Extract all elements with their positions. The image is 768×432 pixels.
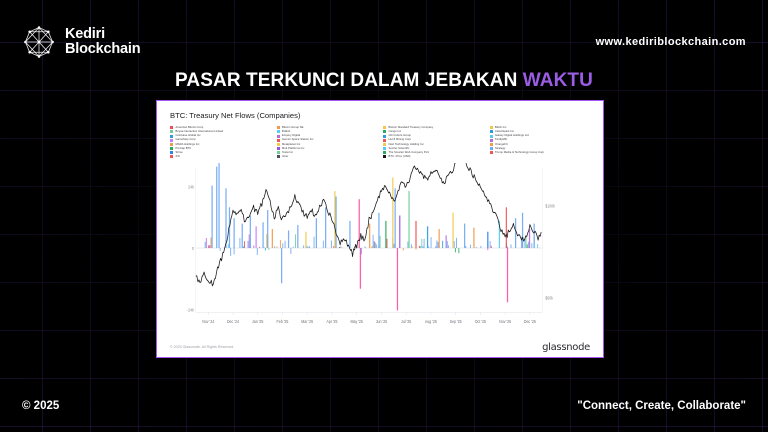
svg-text:Nov '25: Nov '25 bbox=[499, 318, 512, 324]
svg-text:Dec '24: Dec '24 bbox=[227, 318, 240, 324]
flow-bar bbox=[308, 247, 309, 248]
flow-bar-notable bbox=[256, 226, 257, 248]
legend-item[interactable]: Metaplanet Inc bbox=[277, 143, 380, 147]
flow-bar bbox=[307, 245, 308, 247]
flow-bar bbox=[309, 246, 310, 248]
flow-bar bbox=[420, 246, 421, 248]
legend-item[interactable]: Hut 8 Mining Corp bbox=[383, 138, 486, 142]
legend-swatch-icon bbox=[277, 135, 280, 138]
flow-bar bbox=[303, 245, 304, 248]
glassnode-logo: glassnode bbox=[542, 342, 590, 353]
flow-bar bbox=[253, 245, 254, 248]
flow-bar-notable bbox=[534, 223, 535, 247]
legend-item[interactable]: XXI bbox=[170, 155, 273, 159]
chart-svg[interactable]: 24k0-24k$100k$60kNov '24Dec '24Jan '25Fe… bbox=[166, 163, 594, 339]
legend-label: Next Technology Holding Inc bbox=[389, 143, 424, 147]
flow-bar-notable bbox=[522, 212, 523, 247]
flow-bar-notable bbox=[316, 218, 317, 248]
flow-bar bbox=[244, 241, 245, 248]
flow-bar bbox=[314, 236, 315, 247]
flow-bar bbox=[282, 243, 283, 248]
legend-swatch-icon bbox=[383, 155, 386, 158]
flow-bar bbox=[403, 248, 404, 250]
legend-item[interactable]: The Smarter Web Company PLC bbox=[383, 151, 486, 155]
flow-bar bbox=[206, 238, 207, 248]
svg-text:$100k: $100k bbox=[545, 203, 555, 209]
chart-plot-area[interactable]: 24k0-24k$100k$60kNov '24Dec '24Jan '25Fe… bbox=[166, 163, 594, 339]
legend-swatch-icon bbox=[277, 139, 280, 142]
flow-bar bbox=[265, 248, 266, 250]
flow-bar bbox=[290, 248, 291, 254]
brand-logo: Kediri Blockchain bbox=[22, 25, 140, 59]
legend-column-3: Bitcoin Standard Treasury CompanyCango I… bbox=[383, 126, 486, 159]
flow-bar-notable bbox=[408, 191, 409, 248]
flow-bar bbox=[490, 241, 491, 248]
flow-bar bbox=[209, 245, 210, 248]
flow-bar-notable bbox=[225, 188, 226, 248]
flow-bar bbox=[387, 238, 388, 247]
flow-bar bbox=[230, 248, 231, 256]
price-line bbox=[196, 163, 541, 286]
flow-bar-notable bbox=[385, 221, 386, 248]
flow-bar-notable bbox=[349, 221, 350, 248]
legend-swatch-icon bbox=[383, 139, 386, 142]
legend-item[interactable]: GameStop Corp bbox=[170, 138, 273, 142]
flow-bar bbox=[371, 246, 372, 248]
legend-item[interactable]: Strive bbox=[170, 151, 273, 155]
legend-swatch-icon bbox=[277, 155, 280, 158]
legend-item[interactable]: KindlyMD bbox=[490, 138, 593, 142]
flow-bar-notable bbox=[262, 222, 263, 248]
legend-swatch-icon bbox=[383, 147, 386, 150]
flow-bar bbox=[257, 248, 258, 255]
flow-bar bbox=[228, 244, 229, 248]
flow-bar-notable bbox=[325, 207, 326, 248]
flow-bar bbox=[323, 240, 324, 247]
slide-title: PASAR TERKUNCI DALAM JEBAKAN WAKTU bbox=[0, 70, 768, 92]
flow-bar bbox=[465, 245, 466, 247]
flow-bar-notable bbox=[464, 223, 465, 247]
flow-bar-notable bbox=[272, 229, 273, 248]
svg-text:May '25: May '25 bbox=[350, 318, 363, 324]
flow-bar-notable bbox=[515, 218, 516, 248]
flow-bar bbox=[280, 240, 281, 248]
legend-label: Strive bbox=[176, 151, 183, 155]
flow-bar bbox=[491, 245, 492, 247]
legend-swatch-icon bbox=[277, 126, 280, 129]
brand-name-line1: Kediri bbox=[65, 27, 140, 42]
flow-bar bbox=[511, 244, 512, 248]
legend-label: Semler Scientific bbox=[389, 147, 410, 151]
flow-bar bbox=[531, 243, 532, 248]
legend-label: Strategy bbox=[495, 147, 505, 151]
svg-text:Jul '25: Jul '25 bbox=[401, 318, 412, 324]
flow-bar bbox=[249, 234, 250, 248]
legend-swatch-icon bbox=[490, 126, 493, 129]
flow-bar bbox=[234, 248, 235, 254]
legend-label: Metaplanet Inc bbox=[282, 143, 300, 147]
flow-bar bbox=[419, 246, 420, 248]
flow-bar-notable bbox=[267, 210, 268, 248]
flow-bar-notable bbox=[288, 230, 289, 248]
legend-swatch-icon bbox=[383, 151, 386, 154]
legend-swatch-icon bbox=[277, 151, 280, 154]
brand-name: Kediri Blockchain bbox=[65, 27, 140, 57]
flow-bar bbox=[435, 246, 436, 248]
svg-text:Nov '24: Nov '24 bbox=[202, 318, 215, 324]
flow-bar-notable bbox=[392, 177, 393, 248]
legend-item[interactable]: Mult Platforms Inc bbox=[277, 147, 380, 151]
svg-text:Apr '25: Apr '25 bbox=[326, 318, 338, 324]
flow-bar bbox=[436, 240, 437, 248]
flow-bar-notable bbox=[297, 225, 298, 248]
flow-bar bbox=[422, 246, 423, 248]
flow-bar bbox=[454, 241, 455, 248]
flow-bar bbox=[421, 238, 422, 247]
flow-bar bbox=[331, 240, 332, 248]
flow-bar-notable bbox=[473, 227, 474, 247]
slide-footer: © 2025 "Connect, Create, Collaborate" bbox=[22, 400, 746, 412]
flow-bar bbox=[205, 241, 206, 247]
legend-label: BTC: Price (USD) bbox=[389, 155, 411, 159]
legend-swatch-icon bbox=[277, 147, 280, 150]
svg-text:0: 0 bbox=[192, 245, 195, 251]
flow-bar bbox=[339, 247, 340, 248]
flow-bar bbox=[341, 246, 342, 247]
flow-bar bbox=[428, 246, 429, 247]
legend-swatch-icon bbox=[490, 151, 493, 154]
flow-bar bbox=[480, 246, 481, 248]
legend-item[interactable]: Gemini Space Station Inc bbox=[277, 138, 380, 142]
legend-swatch-icon bbox=[383, 135, 386, 138]
flow-bar-notable bbox=[507, 248, 508, 302]
flow-bar bbox=[447, 241, 448, 248]
legend-label: The Smarter Web Company PLC bbox=[389, 151, 430, 155]
legend-item[interactable]: BTC: Price (USD) bbox=[383, 155, 486, 159]
svg-text:Sep '25: Sep '25 bbox=[450, 318, 463, 324]
legend-item[interactable]: ProCap BTC bbox=[170, 147, 273, 151]
svg-text:-24k: -24k bbox=[187, 306, 195, 312]
flow-bar-notable bbox=[427, 226, 428, 248]
flow-bar-notable bbox=[218, 163, 219, 248]
legend-item[interactable]: OrangeFC bbox=[490, 143, 593, 147]
flow-bar bbox=[416, 248, 417, 250]
svg-text:Aug '25: Aug '25 bbox=[425, 318, 438, 324]
legend-swatch-icon bbox=[170, 155, 173, 158]
flow-bar bbox=[376, 244, 377, 248]
flow-bar bbox=[340, 246, 341, 247]
flow-bar bbox=[373, 234, 374, 247]
legend-item[interactable]: Tesla Inc bbox=[277, 151, 380, 155]
legend-swatch-icon bbox=[170, 143, 173, 146]
flow-bar bbox=[394, 243, 395, 247]
flow-bar bbox=[524, 239, 525, 248]
legend-swatch-icon bbox=[170, 135, 173, 138]
flow-bar bbox=[458, 248, 459, 253]
legend-label: ProCap BTC bbox=[176, 147, 192, 151]
legend-item[interactable]: Next Technology Holding Inc bbox=[383, 143, 486, 147]
flow-bar bbox=[248, 240, 249, 247]
flow-bar bbox=[446, 235, 447, 248]
flow-bar bbox=[448, 245, 449, 248]
flow-bar bbox=[455, 248, 456, 252]
legend-swatch-icon bbox=[490, 135, 493, 138]
flow-bar bbox=[374, 241, 375, 248]
flow-bar bbox=[507, 246, 508, 248]
flow-bar bbox=[277, 246, 278, 247]
flow-bar bbox=[266, 233, 267, 247]
legend-swatch-icon bbox=[277, 143, 280, 146]
legend-label: GameStop Corp bbox=[176, 138, 196, 142]
footer-tagline: "Connect, Create, Collaborate" bbox=[577, 400, 746, 412]
flow-bar-notable bbox=[216, 166, 217, 247]
legend-item[interactable]: other bbox=[277, 155, 380, 159]
flow-bar-notable bbox=[305, 231, 306, 247]
legend-swatch-icon bbox=[170, 147, 173, 150]
legend-swatch-icon bbox=[170, 151, 173, 154]
flow-bar bbox=[526, 237, 527, 248]
legend-swatch-icon bbox=[383, 143, 386, 146]
flow-bar bbox=[365, 246, 366, 248]
flow-bar bbox=[528, 241, 529, 247]
flow-bar bbox=[264, 247, 265, 248]
flow-bar-notable bbox=[378, 212, 379, 247]
legend-item[interactable]: Semler Scientific bbox=[383, 147, 486, 151]
footer-copyright: © 2025 bbox=[22, 400, 59, 412]
flow-bar bbox=[220, 248, 221, 251]
flow-bar bbox=[456, 237, 457, 247]
chart-card: BTC: Treasury Net Flows (Companies) Amer… bbox=[156, 100, 604, 358]
legend-swatch-icon bbox=[277, 130, 280, 133]
flow-bar bbox=[431, 237, 432, 248]
flow-bar bbox=[380, 235, 381, 247]
legend-swatch-icon bbox=[170, 130, 173, 133]
flow-bar bbox=[333, 246, 334, 248]
legend-label: other bbox=[282, 155, 288, 159]
flow-bar bbox=[407, 241, 408, 247]
flow-bar-notable bbox=[397, 248, 398, 310]
legend-swatch-icon bbox=[490, 147, 493, 150]
flow-bar-notable bbox=[334, 191, 335, 248]
svg-text:Mar '25: Mar '25 bbox=[301, 318, 313, 324]
legend-column-1: American Bitcoin CorpBoyaa Interactive I… bbox=[170, 126, 273, 159]
legend-swatch-icon bbox=[490, 130, 493, 133]
flow-bar bbox=[537, 244, 538, 248]
flow-bar bbox=[295, 234, 296, 248]
svg-text:Feb '25: Feb '25 bbox=[277, 318, 289, 324]
flow-bar bbox=[411, 244, 412, 248]
flow-bar bbox=[412, 246, 413, 247]
flow-bar bbox=[476, 247, 477, 248]
flow-bar bbox=[259, 246, 260, 247]
svg-text:Oct '25: Oct '25 bbox=[475, 318, 487, 324]
slide-header: Kediri Blockchain www.kediriblockchain.c… bbox=[22, 22, 746, 62]
flow-bar bbox=[375, 242, 376, 247]
chart-card-footer: © 2025 Glassnode. All Rights Reserved. g… bbox=[166, 339, 594, 357]
slide-title-main: PASAR TERKUNCI DALAM JEBAKAN bbox=[175, 70, 517, 91]
flow-bar bbox=[293, 246, 294, 247]
legend-label: Trump Media & Technology Group Corp bbox=[495, 151, 544, 155]
chart-title: BTC: Treasury Net Flows (Companies) bbox=[170, 111, 594, 120]
legend-label: OrangeFC bbox=[495, 143, 508, 147]
flow-bar bbox=[442, 240, 443, 247]
flow-bar-notable bbox=[281, 248, 282, 283]
flow-bar-notable bbox=[233, 218, 234, 248]
legend-item[interactable]: Bitcoin Group SE bbox=[277, 126, 380, 130]
chart-legend: American Bitcoin CorpBoyaa Interactive I… bbox=[166, 126, 594, 159]
flow-bar-notable bbox=[415, 221, 416, 248]
flow-bar bbox=[438, 242, 439, 248]
flow-bar-notable bbox=[529, 229, 530, 248]
website-url: www.kediriblockchain.com bbox=[596, 36, 746, 48]
flow-bar bbox=[243, 246, 244, 248]
legend-label: XXI bbox=[176, 155, 180, 159]
legend-label: Mult Platforms Inc bbox=[282, 147, 304, 151]
svg-text:Jun '25: Jun '25 bbox=[376, 318, 388, 324]
flow-bar-notable bbox=[395, 188, 396, 248]
legend-item[interactable]: Strategy bbox=[490, 147, 593, 151]
legend-column-4: Block IncCleanSpark IncGalaxy Digital Ho… bbox=[490, 126, 593, 159]
flow-bar bbox=[285, 240, 286, 247]
legend-swatch-icon bbox=[170, 126, 173, 129]
flow-bar bbox=[361, 248, 362, 254]
flow-bar-notable bbox=[506, 207, 507, 248]
legend-swatch-icon bbox=[490, 139, 493, 142]
flow-bar-notable bbox=[369, 223, 370, 247]
legend-item[interactable]: MARA Holdings Inc bbox=[170, 143, 273, 147]
svg-text:$60k: $60k bbox=[545, 295, 553, 301]
flow-bar-notable bbox=[360, 248, 361, 289]
flow-bar bbox=[527, 244, 528, 248]
svg-text:24k: 24k bbox=[188, 183, 194, 189]
legend-swatch-icon bbox=[383, 126, 386, 129]
legend-swatch-icon bbox=[490, 143, 493, 146]
flow-bar-notable bbox=[399, 215, 400, 248]
flow-bar bbox=[424, 238, 425, 247]
flow-bar bbox=[268, 248, 269, 250]
legend-label: KindlyMD bbox=[495, 138, 507, 142]
flow-bar bbox=[208, 245, 209, 248]
legend-column-2: Bitcoin Group SEBullishEmpery DigitalGem… bbox=[277, 126, 380, 159]
flow-bar bbox=[210, 237, 211, 248]
legend-label: Hut 8 Mining Corp bbox=[389, 138, 412, 142]
slide-title-highlight: WAKTU bbox=[523, 70, 593, 91]
flow-bar-notable bbox=[211, 185, 212, 247]
flow-bar bbox=[470, 244, 471, 247]
flow-bar-notable bbox=[250, 215, 251, 248]
flow-bar-notable bbox=[439, 229, 440, 248]
svg-text:Jan '25: Jan '25 bbox=[252, 318, 264, 324]
legend-label: MARA Holdings Inc bbox=[176, 143, 200, 147]
legend-label: Gemini Space Station Inc bbox=[282, 138, 314, 142]
flow-bar bbox=[487, 248, 488, 250]
flow-bar-notable bbox=[335, 196, 336, 248]
flow-bar bbox=[274, 246, 275, 248]
legend-label: Tesla Inc bbox=[282, 151, 293, 155]
legend-swatch-icon bbox=[170, 139, 173, 142]
polygon-network-icon bbox=[22, 25, 56, 59]
flow-bar-notable bbox=[242, 223, 243, 247]
flow-bar-notable bbox=[452, 212, 453, 247]
legend-swatch-icon bbox=[383, 130, 386, 133]
chart-copyright: © 2025 Glassnode. All Rights Reserved. bbox=[170, 345, 234, 349]
brand-name-line2: Blockchain bbox=[65, 42, 140, 57]
flow-bar bbox=[239, 238, 240, 248]
flow-bar-notable bbox=[487, 231, 488, 247]
legend-item[interactable]: Trump Media & Technology Group Corp bbox=[490, 151, 593, 155]
svg-text:Dec '25: Dec '25 bbox=[524, 318, 537, 324]
